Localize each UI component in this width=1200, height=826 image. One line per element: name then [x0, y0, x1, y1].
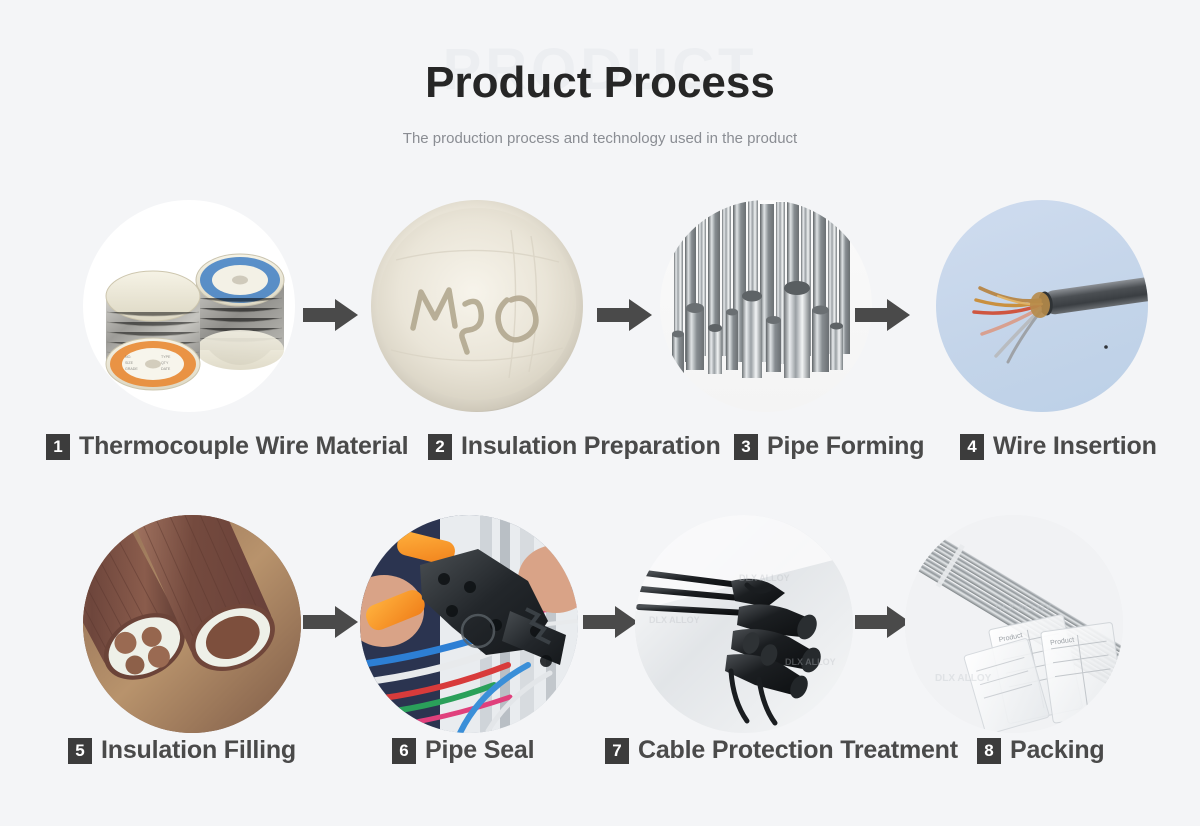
step-1-image: NO.SIZE GRADETYPE QTYDATE [83, 200, 295, 412]
step-8-image: Product Product [905, 515, 1123, 733]
svg-text:DLX ALLOY: DLX ALLOY [935, 673, 992, 684]
process-row-1: NO.SIZE GRADETYPE QTYDATE [0, 200, 1200, 480]
step-5-label-text: Insulation Filling [101, 736, 296, 765]
step-5-label: 5 Insulation Filling [68, 736, 296, 765]
arrow-right-icon-3 [855, 298, 911, 332]
step-2-label-text: Insulation Preparation [461, 432, 721, 461]
process-row-2-images: DLX ALLOY DLX ALLOY DLX ALLOY [0, 500, 1200, 720]
svg-text:DLX ALLOY: DLX ALLOY [785, 657, 836, 667]
black-sheathed-cables-image: DLX ALLOY DLX ALLOY DLX ALLOY [635, 515, 853, 733]
step-2-image [371, 200, 583, 412]
pipe-seal-illustration [360, 515, 578, 733]
step-2-badge: 2 [428, 434, 452, 460]
svg-text:DATE: DATE [161, 367, 171, 371]
step-4-label: 4 Wire Insertion [960, 432, 1157, 461]
step-3-badge: 3 [734, 434, 758, 460]
svg-text:GRADE: GRADE [125, 367, 138, 371]
svg-text:NO.: NO. [125, 355, 131, 359]
step-5-badge: 5 [68, 738, 92, 764]
page-title: Product Process [0, 58, 1200, 108]
arrow-right-icon-1 [303, 298, 359, 332]
mgo-powder-illustration [371, 200, 583, 412]
process-row-1-images: NO.SIZE GRADETYPE QTYDATE [0, 200, 1200, 420]
svg-text:TYPE: TYPE [161, 355, 171, 359]
step-7-label: 7 Cable Protection Treatment [605, 736, 958, 765]
cable-protection-illustration: DLX ALLOY DLX ALLOY DLX ALLOY [635, 515, 853, 733]
step-4-badge: 4 [960, 434, 984, 460]
wire-spools-illustration: NO.SIZE GRADETYPE QTYDATE [83, 200, 295, 412]
crimping-tool-wires-image [360, 515, 578, 733]
page-header: PRODUCT Product Process The production p… [0, 0, 1200, 190]
insulation-filling-illustration [83, 515, 301, 733]
steel-pipes-illustration [660, 200, 872, 412]
svg-text:DLX ALLOY: DLX ALLOY [739, 573, 790, 583]
svg-text:SIZE: SIZE [125, 361, 134, 365]
step-6-label-text: Pipe Seal [425, 736, 534, 765]
process-row-2: DLX ALLOY DLX ALLOY DLX ALLOY [0, 500, 1200, 800]
process-row-1-labels: 1 Thermocouple Wire Material 2 Insulatio… [0, 432, 1200, 472]
mgo-powder-image [371, 200, 583, 412]
step-8-badge: 8 [977, 738, 1001, 764]
step-6-label: 6 Pipe Seal [392, 736, 534, 765]
svg-text:DLX ALLOY: DLX ALLOY [995, 603, 1052, 614]
step-3-label: 3 Pipe Forming [734, 432, 924, 461]
step-2-label: 2 Insulation Preparation [428, 432, 721, 461]
step-6-badge: 6 [392, 738, 416, 764]
thermocouple-wire-spools-image: NO.SIZE GRADETYPE QTYDATE [83, 200, 295, 412]
product-process-infographic: PRODUCT Product Process The production p… [0, 0, 1200, 826]
process-row-2-labels: 5 Insulation Filling 6 Pipe Seal 7 Cable… [0, 736, 1200, 776]
arrow-right-icon-2 [597, 298, 653, 332]
copper-cable-cross-section-image [83, 515, 301, 733]
arrow-right-icon-6 [855, 605, 911, 639]
step-3-image [660, 200, 872, 412]
svg-text:DLX ALLOY: DLX ALLOY [649, 615, 700, 625]
step-4-label-text: Wire Insertion [993, 432, 1157, 461]
step-8-label-text: Packing [1010, 736, 1104, 765]
arrow-right-icon-5 [583, 605, 639, 639]
packaged-rods-bags-image: Product Product [905, 515, 1123, 733]
step-3-label-text: Pipe Forming [767, 432, 924, 461]
step-7-label-text: Cable Protection Treatment [638, 736, 958, 765]
step-4-image [936, 200, 1148, 412]
step-1-label: 1 Thermocouple Wire Material [46, 432, 408, 461]
arrow-right-icon-4 [303, 605, 359, 639]
step-7-image: DLX ALLOY DLX ALLOY DLX ALLOY [635, 515, 853, 733]
step-5-image [83, 515, 301, 733]
page-subtitle: The production process and technology us… [0, 130, 1200, 147]
step-6-image [360, 515, 578, 733]
step-1-badge: 1 [46, 434, 70, 460]
step-1-label-text: Thermocouple Wire Material [79, 432, 408, 461]
packing-illustration: Product Product [905, 515, 1123, 733]
step-7-badge: 7 [605, 738, 629, 764]
wire-insertion-illustration [936, 200, 1148, 412]
cable-wire-strands-image [936, 200, 1148, 412]
step-8-label: 8 Packing [977, 736, 1104, 765]
svg-text:QTY: QTY [161, 361, 169, 365]
stainless-steel-pipes-image [660, 200, 872, 412]
